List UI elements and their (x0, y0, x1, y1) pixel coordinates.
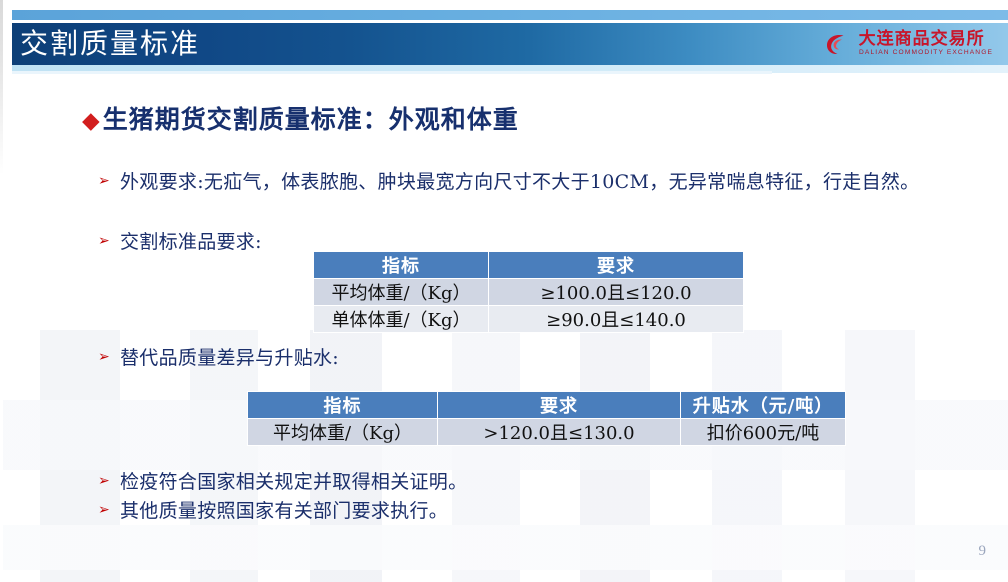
bullet-item-appearance: ➢ 外观要求:无疝气，体表脓胞、肿块最宽方向尺寸不大于10CM，无异常喘息特征，… (98, 168, 978, 197)
table-header-row: 指标 要求 升贴水（元/吨） (248, 392, 846, 419)
dce-swirl-icon (821, 29, 851, 59)
dce-logo-name-cn: 大连商品交易所 (859, 31, 990, 48)
page-title: 交割质量标准 (20, 23, 200, 65)
bullet-item-label: 检疫符合国家相关规定并取得相关证明。 (120, 468, 467, 497)
bullet-item-substitute-premium: ➢ 替代品质量差异与升贴水: (98, 344, 339, 373)
cell-requirement: ≥100.0且≤120.0 (489, 279, 744, 306)
bullet-item-standard-product: ➢ 交割标准品要求: (98, 228, 262, 257)
arrow-bullet-icon: ➢ (98, 228, 120, 254)
dce-logo: 大连商品交易所 DALIAN COMMODITY EXCHANGE (821, 28, 990, 60)
cell-requirement: >120.0且≤130.0 (438, 419, 681, 446)
column-header-indicator: 指标 (314, 252, 489, 279)
slide-canvas: 交割质量标准 大连商品交易所 DALIAN COMMODITY EXCHANGE… (0, 0, 1008, 582)
diamond-bullet-icon: ◆ (82, 107, 101, 134)
dce-logo-name-en: DALIAN COMMODITY EXCHANGE (859, 50, 993, 57)
cell-indicator: 平均体重/（Kg） (248, 419, 438, 446)
column-header-indicator: 指标 (248, 392, 438, 419)
slide-left-edge (0, 0, 3, 582)
header-top-strip (12, 10, 1008, 20)
bullet-item-label: 替代品质量差异与升贴水: (120, 344, 339, 373)
table-header-row: 指标 要求 (314, 252, 744, 279)
section-heading-text: 生猪期货交割质量标准：外观和体重 (103, 105, 519, 134)
table-row: 平均体重/（Kg） ≥100.0且≤120.0 (314, 279, 744, 306)
section-heading: ◆生猪期货交割质量标准：外观和体重 (82, 100, 519, 136)
cell-premium: 扣价600元/吨 (681, 419, 846, 446)
dce-logo-text: 大连商品交易所 DALIAN COMMODITY EXCHANGE (859, 31, 990, 57)
slide-header: 交割质量标准 大连商品交易所 DALIAN COMMODITY EXCHANGE (0, 0, 1008, 82)
substitute-premium-table: 指标 要求 升贴水（元/吨） 平均体重/（Kg） >120.0且≤130.0 扣… (247, 391, 846, 446)
arrow-bullet-icon: ➢ (98, 344, 120, 370)
table-row: 平均体重/（Kg） >120.0且≤130.0 扣价600元/吨 (248, 419, 846, 446)
arrow-bullet-icon: ➢ (98, 168, 120, 194)
page-number: 9 (979, 543, 987, 560)
table-row: 单体体重/（Kg） ≥90.0且≤140.0 (314, 306, 744, 333)
standard-product-table: 指标 要求 平均体重/（Kg） ≥100.0且≤120.0 单体体重/（Kg） … (313, 251, 744, 333)
bullet-item-label: 外观要求:无疝气，体表脓胞、肿块最宽方向尺寸不大于10CM，无异常喘息特征，行走… (120, 168, 976, 197)
header-underline-strip (12, 65, 1008, 73)
arrow-bullet-icon: ➢ (98, 468, 120, 494)
cell-requirement: ≥90.0且≤140.0 (489, 306, 744, 333)
bullet-item-quarantine: ➢ 检疫符合国家相关规定并取得相关证明。 (98, 468, 467, 497)
arrow-bullet-icon: ➢ (98, 497, 120, 523)
bullet-item-label: 交割标准品要求: (120, 228, 262, 257)
column-header-requirement: 要求 (489, 252, 744, 279)
column-header-premium: 升贴水（元/吨） (681, 392, 846, 419)
cell-indicator: 单体体重/（Kg） (314, 306, 489, 333)
column-header-requirement: 要求 (438, 392, 681, 419)
cell-indicator: 平均体重/（Kg） (314, 279, 489, 306)
bullet-item-label: 其他质量按照国家有关部门要求执行。 (120, 497, 448, 526)
bullet-item-other-quality: ➢ 其他质量按照国家有关部门要求执行。 (98, 497, 448, 526)
